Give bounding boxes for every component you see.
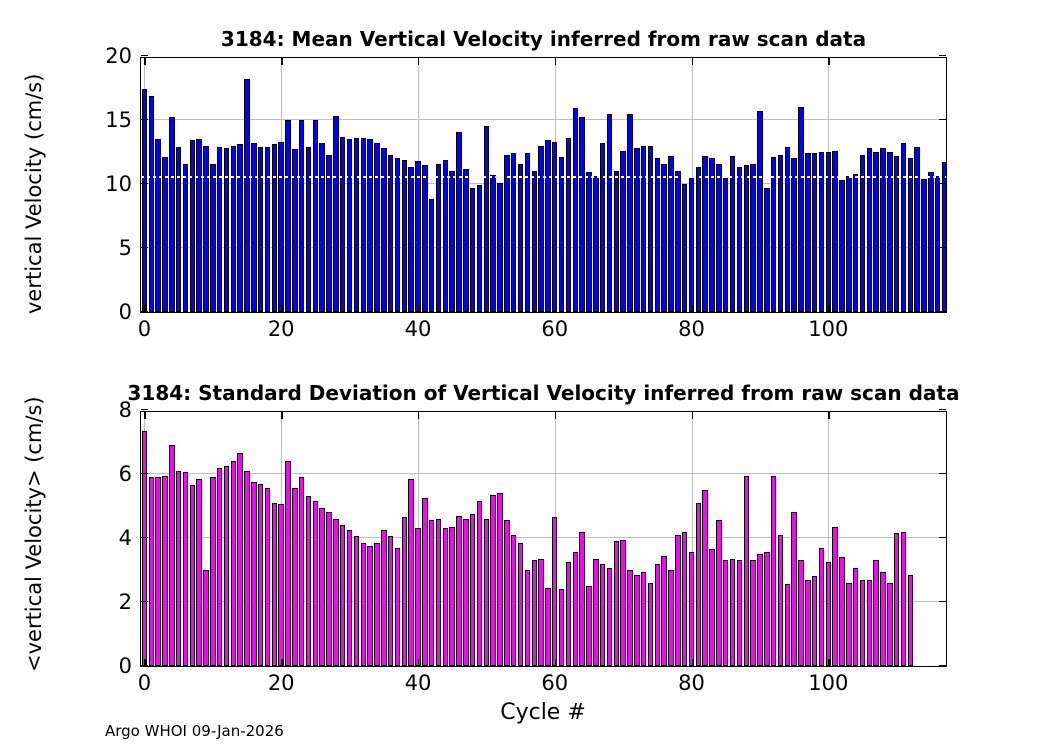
x-tick-mark-top (692, 412, 693, 419)
x-tick-label: 0 (138, 671, 151, 695)
chart-title-mean: 3184: Mean Vertical Velocity inferred fr… (221, 27, 866, 51)
y-tick-mark (141, 247, 148, 248)
y-tick-mark-right (939, 409, 946, 410)
x-tick-mark-top (828, 412, 829, 419)
y-axis-label-std: <vertical Velocity> (cm/s) (22, 396, 46, 672)
y-tick-mark (141, 537, 148, 538)
y-tick-label: 0 (119, 300, 132, 324)
chart-mean-vertical-velocity: 05101520020406080100 3184: Mean Vertical… (140, 57, 947, 313)
x-tick-mark (281, 659, 282, 666)
x-tick-mark (144, 305, 145, 312)
y-tick-label: 15 (105, 108, 132, 132)
y-tick-mark-right (939, 473, 946, 474)
y-tick-mark-right (939, 247, 946, 248)
x-tick-mark (555, 659, 556, 666)
x-tick-label: 100 (808, 671, 848, 695)
y-axis-label-mean: vertical Velocity (cm/s) (22, 74, 46, 314)
x-tick-mark-top (555, 58, 556, 65)
x-tick-label: 40 (405, 317, 432, 341)
x-tick-label: 20 (268, 671, 295, 695)
y-tick-mark (141, 473, 148, 474)
y-tick-mark-right (939, 55, 946, 56)
ticks-mean: 05101520020406080100 (141, 58, 946, 312)
y-tick-label: 5 (119, 236, 132, 260)
x-axis-label: Cycle # (500, 700, 586, 725)
ticks-std: 02468020406080100 (141, 412, 946, 666)
x-tick-label: 60 (541, 317, 568, 341)
y-tick-mark (141, 55, 148, 56)
y-tick-mark (141, 409, 148, 410)
x-tick-mark-top (418, 412, 419, 419)
x-tick-mark-top (418, 58, 419, 65)
x-tick-mark (555, 305, 556, 312)
x-tick-mark-top (281, 58, 282, 65)
x-tick-label: 40 (405, 671, 432, 695)
y-tick-mark-right (939, 665, 946, 666)
footer-credit: Argo WHOI 09-Jan-2026 (105, 722, 284, 740)
x-tick-mark (828, 305, 829, 312)
y-tick-mark (141, 601, 148, 602)
x-tick-mark (692, 659, 693, 666)
x-tick-mark-top (555, 412, 556, 419)
x-tick-mark (418, 659, 419, 666)
y-tick-mark-right (939, 311, 946, 312)
y-tick-label: 4 (119, 526, 132, 550)
x-tick-label: 60 (541, 671, 568, 695)
y-tick-label: 6 (119, 462, 132, 486)
chart-title-std: 3184: Standard Deviation of Vertical Vel… (128, 381, 960, 405)
x-tick-mark-top (828, 58, 829, 65)
plot-area-mean: 05101520020406080100 (140, 57, 947, 313)
y-tick-label: 0 (119, 654, 132, 678)
x-tick-label: 100 (808, 317, 848, 341)
x-tick-mark (828, 659, 829, 666)
x-tick-mark-top (144, 412, 145, 419)
x-tick-label: 0 (138, 317, 151, 341)
x-tick-label: 80 (678, 671, 705, 695)
x-tick-mark (281, 305, 282, 312)
y-tick-mark-right (939, 537, 946, 538)
x-tick-mark (692, 305, 693, 312)
y-tick-mark-right (939, 119, 946, 120)
chart-std-vertical-velocity: 02468020406080100 3184: Standard Deviati… (140, 411, 947, 667)
x-tick-label: 20 (268, 317, 295, 341)
x-tick-mark (144, 659, 145, 666)
figure-canvas: 05101520020406080100 3184: Mean Vertical… (0, 0, 1050, 750)
x-tick-mark-top (144, 58, 145, 65)
x-tick-label: 80 (678, 317, 705, 341)
x-tick-mark-top (692, 58, 693, 65)
y-tick-mark-right (939, 601, 946, 602)
plot-area-std: 02468020406080100 (140, 411, 947, 667)
x-tick-mark (418, 305, 419, 312)
y-tick-label: 10 (105, 172, 132, 196)
y-tick-mark (141, 119, 148, 120)
y-tick-label: 20 (105, 44, 132, 68)
y-tick-mark-right (939, 183, 946, 184)
x-tick-mark-top (281, 412, 282, 419)
y-tick-mark (141, 183, 148, 184)
y-tick-label: 2 (119, 590, 132, 614)
